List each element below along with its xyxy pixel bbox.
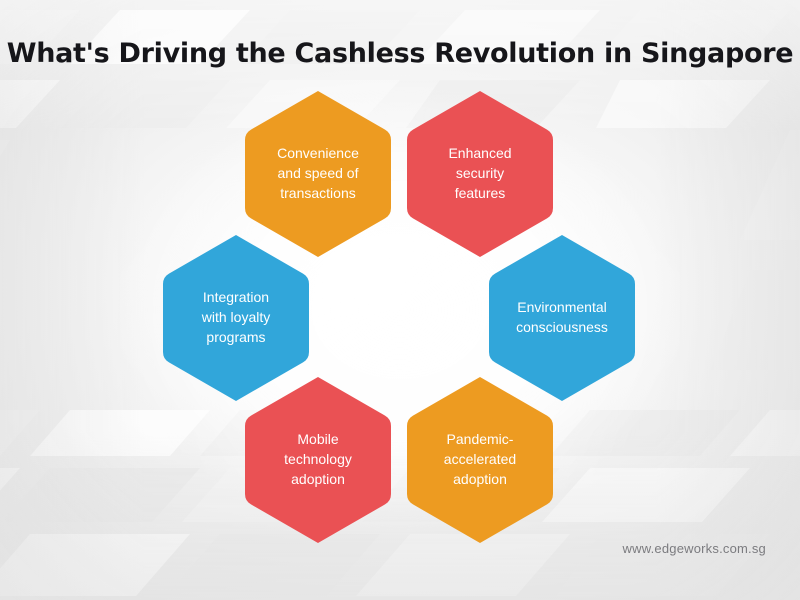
hexagon-pandemic[interactable]: Pandemic- accelerated adoption — [404, 374, 556, 546]
hexagon-label-line3: programs — [180, 328, 292, 348]
hexagon-label-line3: transactions — [262, 184, 374, 204]
hexagon-label-line2: with loyalty — [180, 308, 292, 328]
hexagon-label-line1: Convenience — [262, 144, 374, 164]
hexagon-label-line2: and speed of — [262, 164, 374, 184]
hexagon-label-line1: Enhanced — [424, 144, 536, 164]
hexagon-label-line3: adoption — [424, 470, 536, 490]
hexagon-label-line1: Environmental — [506, 298, 618, 318]
page-title: What's Driving the Cashless Revolution i… — [0, 38, 800, 69]
hexagon-label-line3: features — [424, 184, 536, 204]
hexagon-label-line1: Mobile — [262, 430, 374, 450]
hexagon-label: Enhanced security features — [424, 144, 536, 204]
hexagon-label: Environmental consciousness — [506, 298, 618, 338]
hexagon-loyalty[interactable]: Integration with loyalty programs — [160, 232, 312, 404]
hexagon-label-line2: security — [424, 164, 536, 184]
infographic-canvas: What's Driving the Cashless Revolution i… — [0, 0, 800, 600]
hexagon-label-line1: Pandemic- — [424, 430, 536, 450]
hexagon-label-line1: Integration — [180, 288, 292, 308]
hexagon-label-line2: accelerated — [424, 450, 536, 470]
hexagon-label: Convenience and speed of transactions — [262, 144, 374, 204]
hexagon-label: Integration with loyalty programs — [180, 288, 292, 348]
hexagon-label-line2: consciousness — [506, 318, 618, 338]
hexagon-label: Pandemic- accelerated adoption — [424, 430, 536, 490]
hexagon-ring-diagram: Convenience and speed of transactions En… — [0, 0, 800, 600]
hexagon-label-line2: technology — [262, 450, 374, 470]
footer-website-url[interactable]: www.edgeworks.com.sg — [623, 541, 766, 556]
hexagon-label: Mobile technology adoption — [262, 430, 374, 490]
hexagon-label-line3: adoption — [262, 470, 374, 490]
